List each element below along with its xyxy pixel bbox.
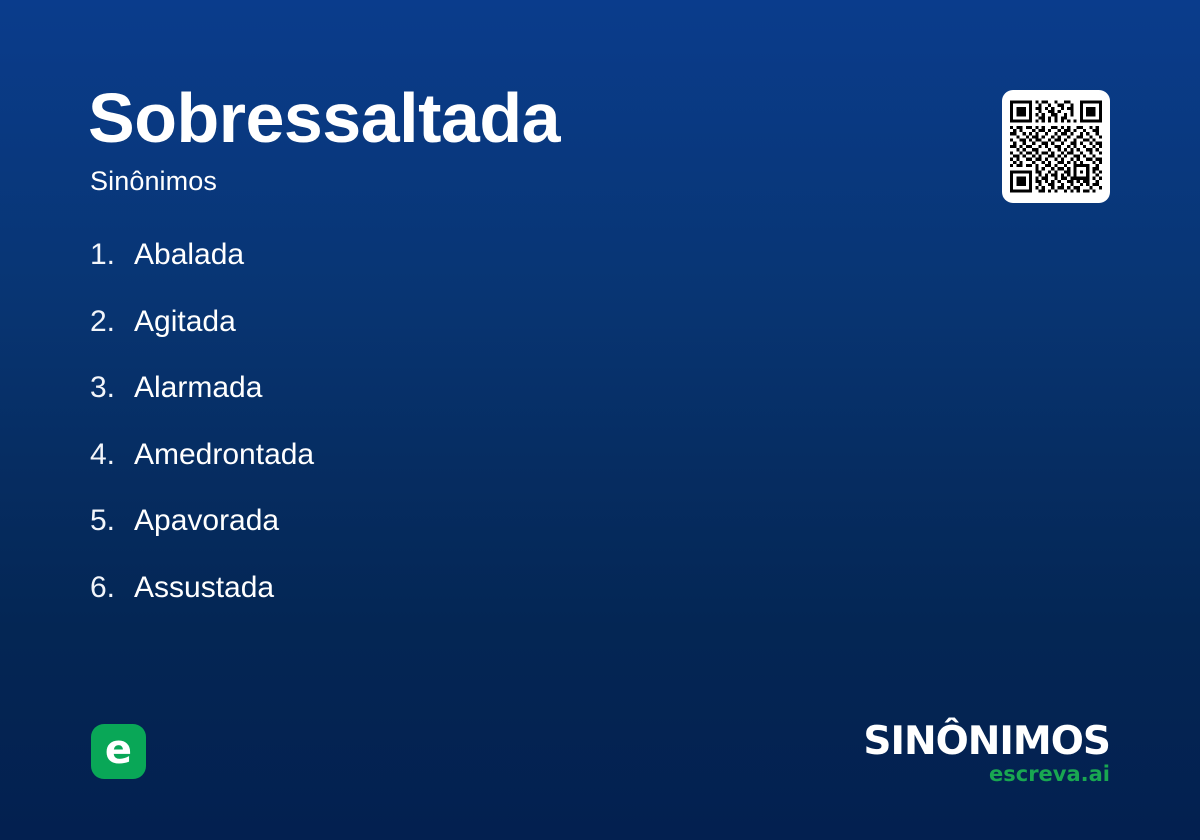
page-subtitle: Sinônimos (90, 168, 217, 195)
list-item: 3. Alarmada (90, 371, 910, 438)
list-item: 2. Agitada (90, 305, 910, 372)
list-item-word: Abalada (134, 238, 244, 272)
list-item-word: Apavorada (134, 504, 279, 538)
app-icon-letter: e (105, 730, 132, 770)
list-item: 4. Amedrontada (90, 438, 910, 505)
page-title: Sobressaltada (88, 83, 560, 153)
list-item-word: Amedrontada (134, 438, 314, 472)
list-item-index: 4. (90, 438, 134, 472)
qr-code-icon[interactable] (1002, 90, 1110, 203)
list-item-index: 5. (90, 504, 134, 538)
list-item-index: 6. (90, 571, 134, 605)
brand-domain: escreva.ai (863, 763, 1110, 785)
list-item-index: 2. (90, 305, 134, 339)
brand-logo[interactable]: SINÔNIMOS escreva.ai (863, 722, 1110, 785)
escreva-e-icon[interactable]: e (91, 724, 146, 779)
list-item-index: 3. (90, 371, 134, 405)
list-item-word: Assustada (134, 571, 274, 605)
list-item: 6. Assustada (90, 571, 910, 638)
list-item: 5. Apavorada (90, 504, 910, 571)
brand-name: SINÔNIMOS (863, 722, 1110, 761)
list-item-word: Agitada (134, 305, 236, 339)
list-item-index: 1. (90, 238, 134, 272)
synonym-card: Sobressaltada Sinônimos 1. Abalada 2. Ag… (0, 0, 1200, 840)
synonym-list: 1. Abalada 2. Agitada 3. Alarmada 4. Ame… (90, 238, 910, 638)
list-item: 1. Abalada (90, 238, 910, 305)
list-item-word: Alarmada (134, 371, 262, 405)
